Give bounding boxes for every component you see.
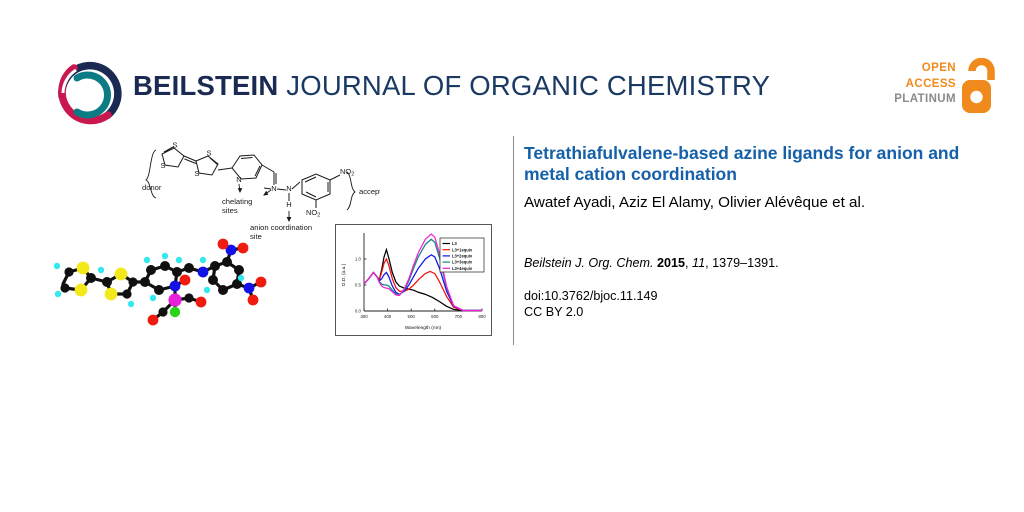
article-doi[interactable]: doi:10.3762/bjoc.11.149 (524, 289, 658, 305)
chart-xtick-label: 800 (478, 314, 486, 319)
chart-ytick-label: 1.0 (355, 257, 362, 262)
atom-label-n: N (286, 184, 291, 193)
article-license[interactable]: CC BY 2.0 (524, 305, 658, 321)
column-divider (513, 136, 514, 345)
journal-wordmark-rest: JOURNAL OF ORGANIC CHEMISTRY (278, 70, 770, 101)
chart-xtick-label: 700 (455, 314, 463, 319)
chart-legend-label: L3+1equiv (452, 247, 473, 252)
article-info-panel: Tetrathiafulvalene-based azine ligands f… (524, 143, 994, 212)
open-access-line-platinum: PLATINUM (890, 92, 956, 108)
chart-ytick-label: 0.0 (355, 309, 362, 314)
citation-journal: Beilstein J. Org. Chem. (524, 256, 653, 270)
chart-legend-label: L3 (452, 241, 458, 246)
journal-wordmark: BEILSTEIN JOURNAL OF ORGANIC CHEMISTRY (133, 70, 770, 102)
open-access-words: OPEN ACCESS PLATINUM (890, 61, 956, 108)
graphical-abstract: S S S S N N N H NO2 NO2 (40, 132, 505, 347)
uv-vis-absorption-chart: 300400500600700800 0.00.51.0 Wavelength … (335, 224, 492, 336)
article-doi-block: doi:10.3762/bjoc.11.149 CC BY 2.0 (524, 289, 658, 320)
chart-legend-label: L3+3equiv (452, 260, 473, 265)
journal-cover-page: BEILSTEIN JOURNAL OF ORGANIC CHEMISTRY O… (0, 0, 1024, 512)
scheme-label-donor: donor (142, 183, 162, 192)
article-citation: Beilstein J. Org. Chem. 2015, 11, 1379–1… (524, 256, 779, 270)
article-authors: Awatef Ayadi, Aziz El Alamy, Olivier Alé… (524, 193, 994, 212)
open-access-line-open: OPEN (890, 61, 956, 77)
chart-xtick-label: 600 (431, 314, 439, 319)
open-access-line-access: ACCESS (890, 77, 956, 93)
atom-label-n: N (236, 175, 241, 184)
atom-label-s: S (172, 141, 177, 150)
chart-ytick-label: 0.5 (355, 283, 362, 288)
atom-label-h: H (286, 200, 291, 209)
atom-label-s: S (160, 161, 165, 170)
citation-year: 2015 (657, 256, 685, 270)
chart-xtick-label: 400 (384, 314, 392, 319)
open-padlock-icon (960, 58, 998, 121)
chart-ylabel: O.D. (a.u.) (341, 263, 347, 286)
atom-label-s: S (206, 149, 211, 158)
chart-legend-label: L3+2equiv (452, 254, 473, 259)
atom-label-n: N (271, 184, 276, 193)
chart-xtick-label: 500 (408, 314, 416, 319)
citation-pages: 1379–1391. (712, 256, 779, 270)
citation-sep-2: , (685, 256, 692, 270)
ball-and-stick-molecular-model (45, 232, 275, 337)
page-header: BEILSTEIN JOURNAL OF ORGANIC CHEMISTRY O… (0, 0, 1024, 135)
open-access-badge: OPEN ACCESS PLATINUM (890, 58, 998, 120)
scheme-label-chelating-2: sites (222, 206, 238, 215)
beilstein-ring-logo-icon (52, 56, 126, 130)
scheme-label-anion-1: anion coordination (250, 223, 312, 232)
atom-label-s: S (194, 169, 199, 178)
chart-xtick-label: 300 (360, 314, 368, 319)
citation-volume: 11 (692, 256, 705, 270)
scheme-label-chelating-1: chelating (222, 197, 252, 206)
article-title: Tetrathiafulvalene-based azine ligands f… (524, 143, 994, 184)
journal-wordmark-bold: BEILSTEIN (133, 70, 278, 101)
chart-xlabel: Wavelength (nm) (405, 325, 442, 331)
chart-legend-label: L3+4equiv (452, 266, 473, 271)
scheme-label-acceptor: acceptor (359, 187, 380, 196)
atom-label-no2: NO2 (306, 208, 320, 219)
